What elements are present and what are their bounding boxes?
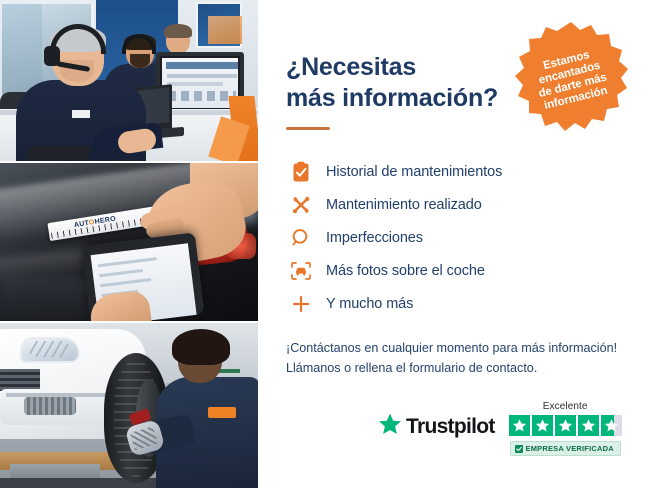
star-4 (578, 415, 599, 436)
photo-wheel-inspection (0, 323, 258, 488)
verified-label: EMPRESA VERIFICADA (526, 444, 614, 453)
paragraph-line-2: Llámanos o rellena el formulario de cont… (286, 358, 624, 378)
magnifier-icon (286, 228, 316, 248)
page-title: ¿Necesitas más información? (286, 52, 516, 113)
verified-business-badge: EMPRESA VERIFICADA (510, 441, 621, 456)
feature-item-more-photos: Más fotos sobre el coche (286, 255, 624, 287)
trustpilot-star-icon (378, 412, 402, 441)
star-3 (555, 415, 576, 436)
feature-item-maintenance-history: Historial de mantenimientos (286, 156, 624, 188)
feature-item-imperfections: Imperfecciones (286, 222, 624, 254)
feature-label: Más fotos sobre el coche (326, 263, 485, 279)
plus-icon (286, 294, 316, 314)
trustpilot-stars (509, 415, 622, 436)
title-divider (286, 127, 330, 130)
check-icon (515, 445, 523, 453)
photo-car-inspection-ruler: AUTOHERO (0, 163, 258, 320)
trustpilot-wordmark: Trustpilot (406, 415, 495, 439)
photo-call-center (0, 0, 258, 161)
star-2 (532, 415, 553, 436)
feature-list: Historial de mantenimientos M (286, 156, 624, 320)
feature-label: Historial de mantenimientos (326, 164, 502, 180)
feature-label: Y mucho más (326, 296, 413, 312)
feature-item-much-more: Y mucho más (286, 288, 624, 320)
clipboard-check-icon (286, 161, 316, 183)
content-panel: Estamos encantados de darte más informac… (258, 0, 650, 488)
paragraph-line-1: ¡Contáctanos en cualquier momento para m… (286, 338, 624, 358)
promo-card: AUTOHERO (0, 0, 650, 488)
trustpilot-rating-label: Excelente (543, 401, 588, 412)
star-5-partial (601, 415, 622, 436)
car-photo-frame-icon (286, 261, 316, 281)
trustpilot-logo: Trustpilot (378, 401, 495, 441)
trustpilot-widget[interactable]: Trustpilot Excelente EMPRESA VERIFICADA (378, 401, 622, 456)
heading-line-1: ¿Necesitas (286, 53, 416, 81)
heading-line-2: más información? (286, 84, 498, 112)
feature-label: Imperfecciones (326, 230, 423, 246)
feature-item-maintenance-done: Mantenimiento realizado (286, 189, 624, 221)
crossed-tools-icon (286, 195, 316, 215)
feature-label: Mantenimiento realizado (326, 197, 482, 213)
photo-column: AUTOHERO (0, 0, 258, 488)
promo-burst-badge: Estamos encantados de darte más informac… (510, 18, 632, 140)
contact-paragraph: ¡Contáctanos en cualquier momento para m… (286, 338, 624, 379)
star-1 (509, 415, 530, 436)
